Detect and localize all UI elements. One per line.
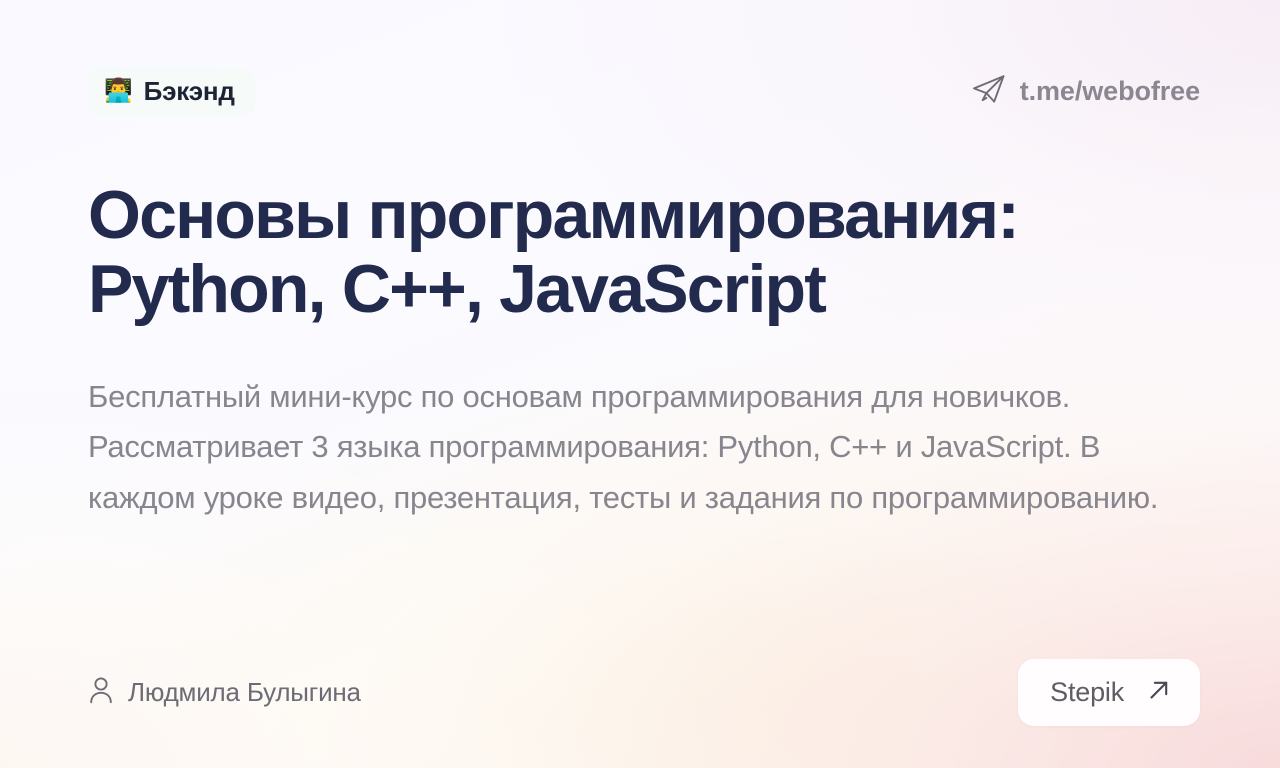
promo-card: 👨‍💻 Бэкэнд t.me/webofree Основы программ… (0, 0, 1280, 768)
page-title-line-1: Основы программирования: (88, 178, 1088, 252)
telegram-handle-label: t.me/webofree (1020, 76, 1200, 107)
telegram-link[interactable]: t.me/webofree (972, 74, 1200, 109)
page-title-line-2: Python, C++, JavaScript (88, 252, 1088, 326)
category-badge: 👨‍💻 Бэкэнд (88, 67, 255, 116)
person-icon (88, 675, 114, 710)
top-bar: 👨‍💻 Бэкэнд t.me/webofree (88, 62, 1200, 120)
author-block: Людмила Булыгина (88, 675, 361, 710)
main-content: Основы программирования: Python, C++, Ja… (88, 178, 1200, 523)
author-name-label: Людмила Булыгина (128, 677, 361, 708)
technologist-emoji-icon: 👨‍💻 (104, 80, 133, 103)
stepik-button-label: Stepik (1050, 677, 1124, 708)
page-title: Основы программирования: Python, C++, Ja… (88, 178, 1088, 326)
telegram-plane-icon (972, 74, 1006, 109)
stepik-button[interactable]: Stepik (1018, 659, 1200, 726)
course-description: Бесплатный мини-курс по основам программ… (88, 372, 1198, 523)
arrow-up-right-icon (1146, 677, 1172, 708)
category-badge-label: Бэкэнд (144, 76, 235, 107)
footer-bar: Людмила Булыгина Stepik (88, 661, 1200, 723)
